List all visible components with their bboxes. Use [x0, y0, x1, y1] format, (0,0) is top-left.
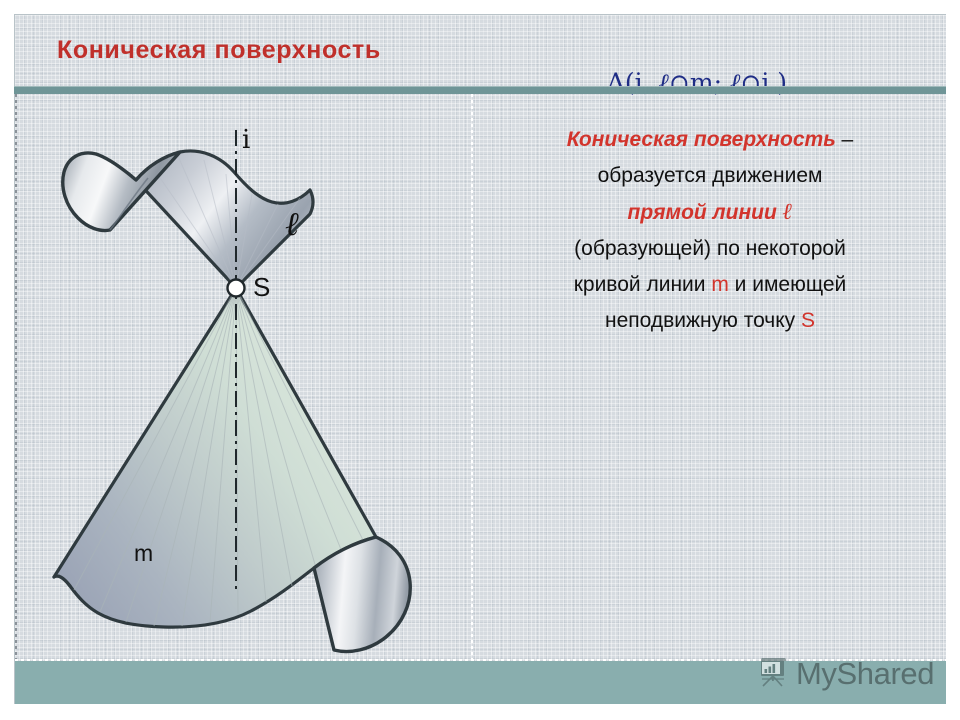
definition-line-5: кривой линии m и имеющей — [486, 267, 934, 303]
definition-line-5b: и имеющей — [729, 273, 846, 296]
directrix-label-m: m — [134, 540, 153, 567]
cone-upper-nappe-group — [63, 151, 313, 288]
conical-surface-diagram: i ℓ S m — [14, 94, 472, 660]
apex-label-s: S — [253, 272, 270, 303]
definition-line-5a: кривой линии — [574, 273, 712, 296]
definition-text-block: Коническая поверхность – образуется движ… — [486, 122, 934, 339]
symbol-s: S — [801, 309, 815, 332]
definition-line-6a: неподвижную точку — [605, 309, 801, 332]
page-title: Коническая поверхность — [57, 36, 381, 65]
symbol-l: ℓ — [783, 198, 793, 225]
definition-dash: – — [836, 128, 854, 151]
header-divider-rule — [14, 86, 946, 94]
symbol-m: m — [711, 273, 729, 296]
apex-point-marker — [228, 280, 245, 297]
term-conical-surface: Коническая поверхность — [567, 128, 836, 151]
watermark-label: MyShared — [796, 656, 934, 692]
term-straight-line: прямой линии — [628, 201, 783, 224]
slide-canvas: Коническая поверхность Δ(i, ℓ∩m; ℓ∩i ) — [0, 0, 960, 720]
axis-label-i: i — [242, 125, 250, 155]
presentation-chart-icon — [756, 655, 790, 692]
cone-illustration-svg — [14, 94, 472, 660]
definition-line-3: прямой линии ℓ — [486, 194, 934, 231]
generator-label-l: ℓ — [285, 204, 299, 244]
watermark: MyShared — [756, 655, 934, 692]
definition-line-2: образуется движением — [486, 158, 934, 194]
formula-expression: Δ(i, ℓ∩m; ℓ∩i ) — [575, 39, 787, 127]
definition-line-4: (образующей) по некоторой — [486, 231, 934, 267]
title-zone: Коническая поверхность — [14, 15, 946, 85]
definition-line-6: неподвижную точку S — [486, 303, 934, 339]
definition-line-1: Коническая поверхность – — [486, 122, 934, 158]
cone-lower-nappe-group — [54, 288, 410, 651]
